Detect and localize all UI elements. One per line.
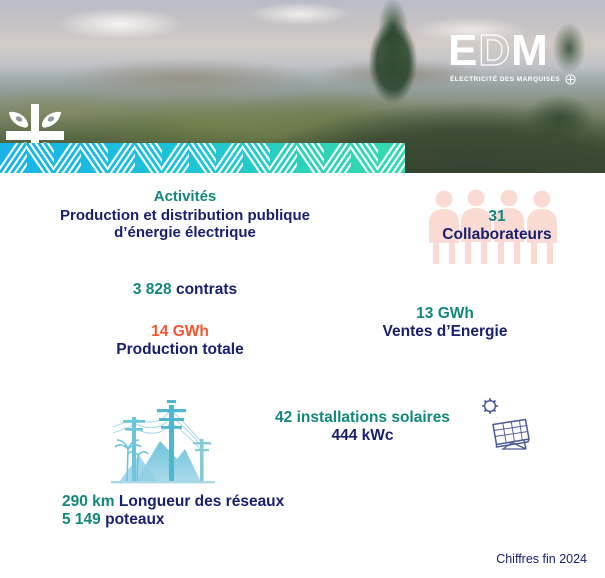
logo-wordmark: EDM [448,29,588,73]
solaire-label: 444 kWc [255,427,470,445]
stat-activites: Activités Production et distribution pub… [20,188,350,241]
reseaux-label2: poteaux [105,511,164,528]
stat-reseaux: 290 km Longueur des réseaux 5 149 poteau… [62,493,284,529]
reseaux-line2: 5 149 poteaux [62,511,284,529]
woven-chevron-band [0,143,405,173]
stat-contrats: 3 828 contrats [20,281,350,299]
power-lines-landscape-icon [105,397,225,487]
reseaux-value2: 5 149 [62,511,101,528]
stat-collaborateurs: 31 Collaborateurs [408,188,586,264]
production-value: 14 GWh [60,323,300,341]
ventes-value: 13 GWh [340,305,550,323]
production-label: Production totale [60,341,300,359]
edm-logo: EDM ÉLECTRICITÉ DES MARQUISES [448,29,588,91]
reseaux-line1: 290 km Longueur des réseaux [62,493,284,511]
ventes-label: Ventes d’Energie [340,323,550,341]
logo-subtitle: ÉLECTRICITÉ DES MARQUISES [450,76,560,83]
solar-panel-icon [476,395,534,453]
reseaux-label1: Longueur des réseaux [119,493,284,510]
reseaux-value1: 290 km [62,493,115,510]
activites-line2: d’énergie électrique [20,224,350,241]
logo-emblem-icon [565,74,576,85]
activites-line1: Production et distribution publique [20,207,350,224]
contrats-value: 3 828 [133,281,172,298]
logo-subtitle-row: ÉLECTRICITÉ DES MARQUISES [450,74,588,85]
footer-note: Chiffres fin 2024 [0,552,587,566]
activites-title: Activités [20,188,350,205]
collaborateurs-label: Collaborateurs [408,226,586,244]
logo-letter-d: D [478,26,511,75]
infographic-body: Activités Production et distribution pub… [0,173,605,578]
collaborateurs-value: 31 [408,208,586,226]
contrats-line: 3 828 contrats [20,281,350,299]
logo-letter-m: M [511,26,549,75]
weave-pattern [0,143,405,173]
stat-ventes: 13 GWh Ventes d’Energie [340,305,550,341]
header-banner: EDM ÉLECTRICITÉ DES MARQUISES [0,0,605,173]
stat-production: 14 GWh Production totale [60,323,300,359]
logo-letter-e: E [448,26,478,75]
collaborateurs-text: 31 Collaborateurs [408,208,586,244]
stat-solaire: 42 installations solaires 444 kWc [255,409,470,445]
solaire-value: 42 installations solaires [255,409,470,427]
contrats-label: contrats [176,281,237,298]
